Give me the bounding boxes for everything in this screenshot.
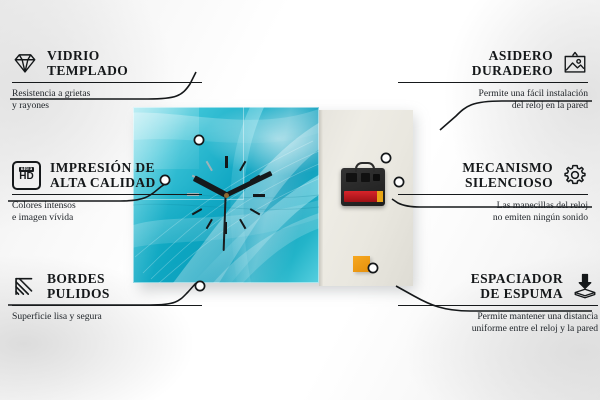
feature-header: MECANISMO SILENCIOSO xyxy=(398,160,588,190)
feature-subtitle-line1: Permite mantener una distancia xyxy=(398,311,598,323)
feature-subtitle-line1: Permite una fácil instalación xyxy=(398,88,588,100)
feature-subtitle-line2: uniforme entre el reloj y la pared xyxy=(398,323,598,335)
feature-divider xyxy=(398,305,598,306)
feature-title: BORDES PULIDOS xyxy=(47,271,110,301)
feature-title: ASIDERO DURADERO xyxy=(472,48,553,78)
feature-header: ESPACIADOR DE ESPUMA xyxy=(398,271,598,301)
feature-header: ASIDERO DURADERO xyxy=(398,48,588,78)
ultra-hd-badge-main-text: HD xyxy=(19,172,33,183)
battery-positive-terminal xyxy=(377,191,383,202)
foam-spacer xyxy=(353,256,370,272)
back-panel-edge xyxy=(319,110,323,286)
feature-title: VIDRIO TEMPLADO xyxy=(47,48,128,78)
foam-spacer-arrow-icon xyxy=(572,273,598,299)
feature-title: MECANISMO SILENCIOSO xyxy=(462,160,553,190)
clock-center-hub xyxy=(224,193,229,198)
feature-subtitle-line1: Las manecillas del reloj xyxy=(398,200,588,212)
mechanism-slot xyxy=(346,173,357,182)
infographic-canvas: VIDRIO TEMPLADO Resistencia a grietas y … xyxy=(0,0,600,400)
feature-subtitle-line1: Superficie lisa y segura xyxy=(12,311,202,323)
feature-divider xyxy=(12,194,202,195)
feature-title: IMPRESIÓN DE ALTA CALIDAD xyxy=(50,160,156,190)
feature-divider xyxy=(12,82,202,83)
feature-divider xyxy=(398,82,588,83)
ultra-hd-badge-icon: ultra HD xyxy=(12,161,41,190)
wall-hanger-frame-icon xyxy=(562,50,588,76)
feature-subtitle-line1: Resistencia a grietas xyxy=(12,88,202,100)
gear-icon xyxy=(562,162,588,188)
feature-mecanismo-silencioso[interactable]: MECANISMO SILENCIOSO Las manecillas del … xyxy=(398,160,588,223)
polished-edges-icon xyxy=(12,273,38,299)
feature-asidero-duradero[interactable]: ASIDERO DURADERO Permite una fácil insta… xyxy=(398,48,588,111)
feature-impresion-alta-calidad[interactable]: ultra HD IMPRESIÓN DE ALTA CALIDAD Color… xyxy=(12,160,202,223)
feature-header: BORDES PULIDOS xyxy=(12,271,202,301)
feature-header: VIDRIO TEMPLADO xyxy=(12,48,202,78)
mechanism-hanger-icon xyxy=(355,162,375,172)
feature-subtitle-line2: del reloj en la pared xyxy=(398,100,588,112)
feature-bordes-pulidos[interactable]: BORDES PULIDOS Superficie lisa y segura xyxy=(12,271,202,323)
clock-mechanism xyxy=(341,168,385,206)
feature-vidrio-templado[interactable]: VIDRIO TEMPLADO Resistencia a grietas y … xyxy=(12,48,202,111)
feature-espaciador-de-espuma[interactable]: ESPACIADOR DE ESPUMA Permite mantener un… xyxy=(398,271,598,334)
feature-subtitle-line2: y rayones xyxy=(12,100,202,112)
feature-divider xyxy=(12,305,202,306)
feature-subtitle-line1: Colores intensos xyxy=(12,200,202,212)
feature-divider xyxy=(398,194,588,195)
diamond-icon xyxy=(12,50,38,76)
feature-subtitle-line2: no emiten ningún sonido xyxy=(398,212,588,224)
feature-header: ultra HD IMPRESIÓN DE ALTA CALIDAD xyxy=(12,160,202,190)
feature-title: ESPACIADOR DE ESPUMA xyxy=(471,271,563,301)
battery xyxy=(344,191,382,202)
mechanism-slot xyxy=(373,174,380,181)
mechanism-slot xyxy=(361,173,370,182)
feature-subtitle-line2: e imagen vívida xyxy=(12,212,202,224)
